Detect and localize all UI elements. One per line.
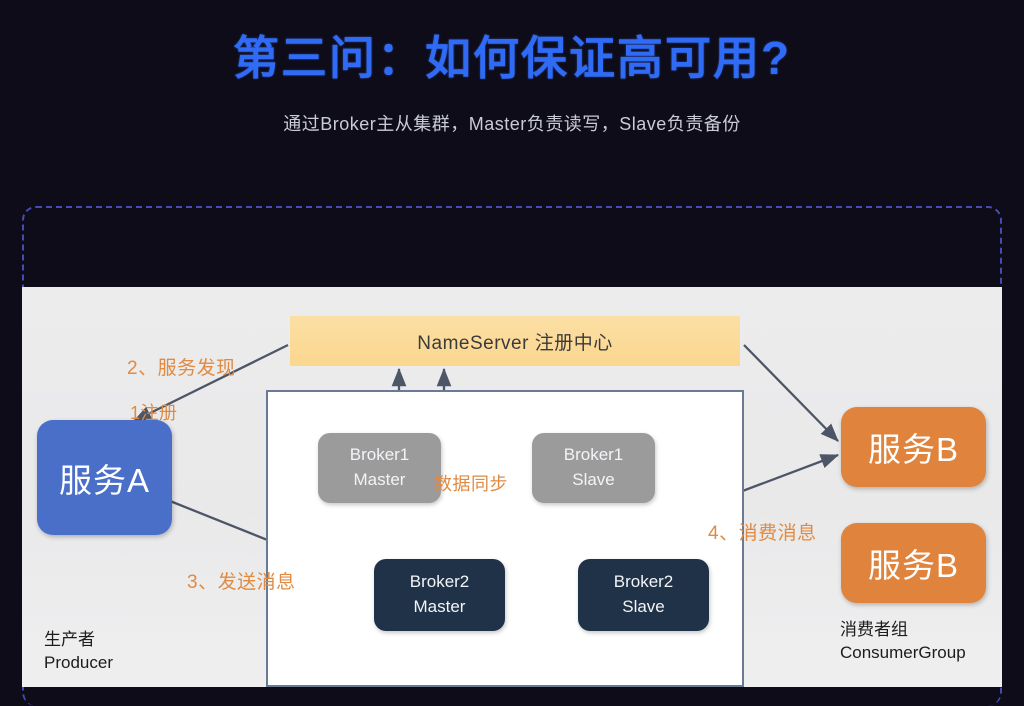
broker1-slave-line1: Broker1: [564, 443, 624, 468]
broker1-master-box[interactable]: Broker1 Master: [318, 433, 441, 503]
broker1-slave-line2: Slave: [572, 468, 615, 493]
broker2-slave-box[interactable]: Broker2 Slave: [578, 559, 709, 631]
broker1-master-line1: Broker1: [350, 443, 410, 468]
service-b-box-2[interactable]: 服务B: [841, 523, 986, 603]
step-label-register: 1注册: [130, 399, 178, 425]
page-subtitle: 通过Broker主从集群，Master负责读写，Slave负责备份: [0, 110, 1024, 136]
service-b-box-1[interactable]: 服务B: [841, 407, 986, 487]
broker1-slave-box[interactable]: Broker1 Slave: [532, 433, 655, 503]
service-a-label: 服务A: [59, 454, 150, 502]
step-label-send: 3、发送消息: [187, 567, 296, 594]
consumer-caption: 消费者组 ConsumerGroup: [840, 619, 966, 665]
service-b-2-label: 服务B: [868, 539, 959, 587]
broker2-master-line2: Master: [414, 595, 466, 620]
broker2-slave-line2: Slave: [622, 595, 665, 620]
diagram-panel: NameServer 注册中心 Broker1 Master Broker1 S…: [22, 287, 1002, 687]
service-a-box[interactable]: 服务A: [37, 420, 172, 535]
broker1-master-line2: Master: [354, 468, 406, 493]
nameserver-label: NameServer 注册中心: [417, 328, 612, 355]
step-label-discovery: 2、服务发现: [127, 353, 236, 380]
producer-caption: 生产者 Producer: [44, 629, 113, 675]
step-label-sync: 数据同步: [434, 470, 508, 496]
broker2-slave-line1: Broker2: [614, 570, 674, 595]
producer-caption-cn: 生产者: [44, 629, 113, 652]
broker2-master-line1: Broker2: [410, 570, 470, 595]
consumer-caption-en: ConsumerGroup: [840, 642, 966, 665]
nameserver-box[interactable]: NameServer 注册中心: [290, 316, 740, 366]
service-b-1-label: 服务B: [868, 423, 959, 471]
broker2-master-box[interactable]: Broker2 Master: [374, 559, 505, 631]
consumer-caption-cn: 消费者组: [840, 619, 966, 642]
producer-caption-en: Producer: [44, 652, 113, 675]
page-title: 第三问：如何保证高可用?: [0, 22, 1024, 88]
slide-root: 第三问：如何保证高可用? 通过Broker主从集群，Master负责读写，Sla…: [0, 0, 1024, 706]
step-label-consume: 4、消费消息: [708, 518, 817, 545]
